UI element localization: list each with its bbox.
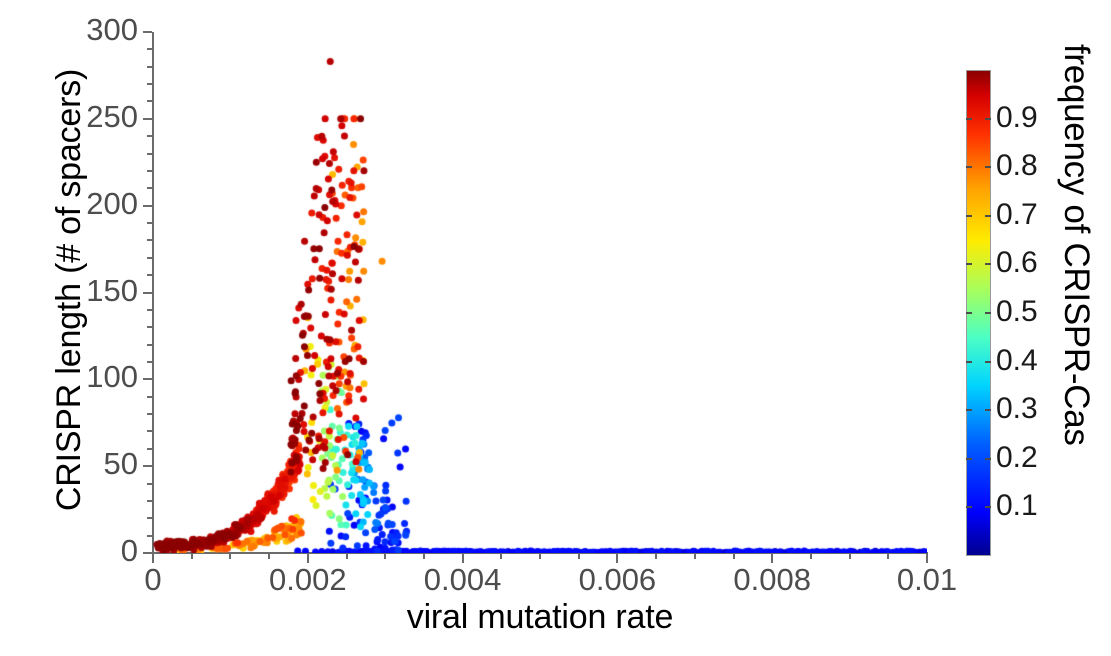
- colorbar-tick: [966, 312, 972, 314]
- colorbar-tick: [966, 409, 972, 411]
- y-tick-minor: [147, 396, 152, 398]
- colorbar-tick-label: 0.8: [996, 151, 1038, 181]
- y-tick-minor: [147, 48, 152, 50]
- x-tick-minor: [423, 554, 425, 559]
- colorbar-tick: [966, 215, 972, 217]
- x-tick-label: 0: [73, 562, 233, 598]
- x-tick-minor: [384, 554, 386, 559]
- colorbar-tick-label: 0.5: [996, 297, 1038, 327]
- x-tick-label: 0.008: [692, 562, 852, 598]
- x-tick-minor: [887, 554, 889, 559]
- x-tick-minor: [191, 554, 193, 559]
- colorbar-label: frequency of CRISPR-Cas: [1054, 44, 1098, 564]
- y-tick-label: 50: [38, 446, 138, 482]
- y-tick-label: 250: [38, 99, 138, 135]
- y-tick-minor: [147, 274, 152, 276]
- colorbar-tick-label: 0.3: [996, 394, 1038, 424]
- colorbar-tick-label: 0.4: [996, 346, 1038, 376]
- colorbar-tick: [985, 409, 991, 411]
- y-tick-minor: [147, 222, 152, 224]
- colorbar-tick: [985, 263, 991, 265]
- colorbar-tick: [985, 215, 991, 217]
- y-tick-major: [143, 118, 152, 120]
- x-tick-minor: [500, 554, 502, 559]
- y-tick-minor: [147, 326, 152, 328]
- y-tick-minor: [147, 153, 152, 155]
- x-tick-minor: [655, 554, 657, 559]
- colorbar-tick-label: 0.6: [996, 248, 1038, 278]
- y-tick-major: [143, 205, 152, 207]
- x-tick-minor: [346, 554, 348, 559]
- y-tick-minor: [147, 448, 152, 450]
- plot-area: [153, 32, 927, 553]
- y-tick-major: [143, 465, 152, 467]
- y-tick-minor: [147, 344, 152, 346]
- colorbar-tick: [985, 166, 991, 168]
- x-tick-minor: [539, 554, 541, 559]
- colorbar-tick: [966, 263, 972, 265]
- x-tick-label: 0.01: [847, 562, 1007, 598]
- x-tick-label: 0.006: [537, 562, 697, 598]
- y-tick-major: [143, 292, 152, 294]
- y-tick-minor: [147, 83, 152, 85]
- x-tick-label: 0.004: [383, 562, 543, 598]
- x-tick-minor: [268, 554, 270, 559]
- y-tick-minor: [147, 361, 152, 363]
- y-tick-minor: [147, 100, 152, 102]
- y-tick-minor: [147, 239, 152, 241]
- y-tick-major: [143, 378, 152, 380]
- y-tick-minor: [147, 170, 152, 172]
- x-axis-label: viral mutation rate: [153, 598, 927, 637]
- scatter-points-canvas: [153, 32, 927, 553]
- colorbar-tick: [966, 166, 972, 168]
- colorbar-tick: [966, 361, 972, 363]
- colorbar-tick-label: 0.7: [996, 200, 1038, 230]
- colorbar-tick-label: 0.1: [996, 491, 1038, 521]
- y-tick-minor: [147, 535, 152, 537]
- y-tick-minor: [147, 517, 152, 519]
- x-tick-label: 0.002: [228, 562, 388, 598]
- colorbar-tick: [985, 361, 991, 363]
- y-tick-minor: [147, 413, 152, 415]
- x-tick-minor: [694, 554, 696, 559]
- y-tick-minor: [147, 135, 152, 137]
- colorbar-tick: [985, 506, 991, 508]
- x-tick-minor: [810, 554, 812, 559]
- colorbar-tick-label: 0.2: [996, 443, 1038, 473]
- colorbar-tick: [966, 506, 972, 508]
- y-tick-minor: [147, 483, 152, 485]
- colorbar-tick-label: 0.9: [996, 103, 1038, 133]
- x-tick-minor: [578, 554, 580, 559]
- y-tick-minor: [147, 500, 152, 502]
- x-tick-minor: [849, 554, 851, 559]
- scatter-figure: CRISPR length (# of spacers) viral mutat…: [0, 0, 1111, 656]
- x-tick-minor: [229, 554, 231, 559]
- y-tick-label: 100: [38, 359, 138, 395]
- y-tick-minor: [147, 187, 152, 189]
- colorbar-tick: [985, 458, 991, 460]
- y-tick-major: [143, 552, 152, 554]
- colorbar-tick: [966, 458, 972, 460]
- y-tick-minor: [147, 257, 152, 259]
- y-tick-minor: [147, 309, 152, 311]
- colorbar-tick: [966, 118, 972, 120]
- colorbar: 0.10.20.30.40.50.60.70.80.9: [966, 70, 991, 556]
- colorbar-tick: [985, 312, 991, 314]
- x-tick-minor: [733, 554, 735, 559]
- y-tick-label: 150: [38, 273, 138, 309]
- y-tick-label: 200: [38, 186, 138, 222]
- y-tick-minor: [147, 66, 152, 68]
- y-tick-major: [143, 31, 152, 33]
- colorbar-tick: [985, 118, 991, 120]
- y-tick-minor: [147, 430, 152, 432]
- y-tick-label: 300: [38, 12, 138, 48]
